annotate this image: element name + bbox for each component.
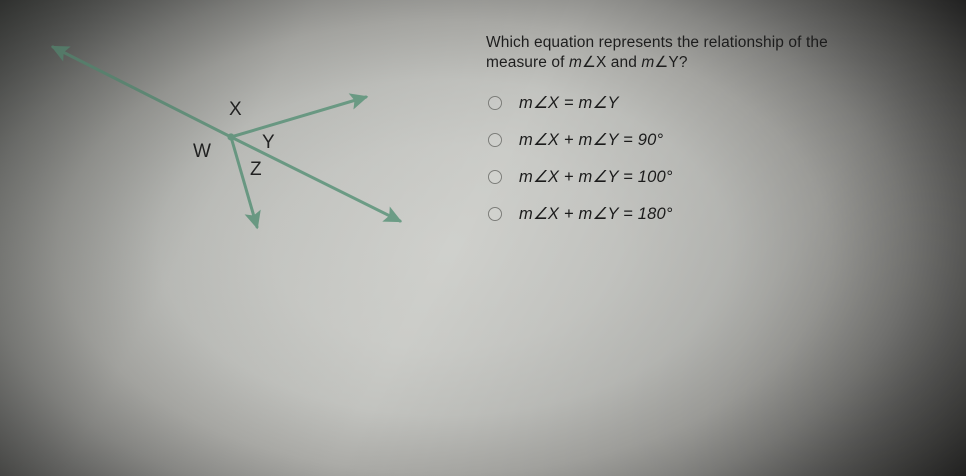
answer-option-d[interactable]: m∠X + m∠Y = 180°: [486, 196, 926, 233]
question-prompt: Which equation represents the relationsh…: [486, 33, 911, 74]
point-label-z: Z: [250, 160, 262, 179]
screenshot-root: W X Y Z Which equation represents the re…: [0, 0, 966, 476]
answer-options-list: m∠X = m∠Y m∠X + m∠Y = 90° m∠X + m∠Y = 10…: [486, 85, 926, 233]
answer-option-d-label: m∠X + m∠Y = 180°: [519, 206, 673, 223]
ray-lower-down: [231, 137, 257, 227]
radio-button-icon-a[interactable]: [488, 96, 502, 110]
question-angle-y: ∠Y?: [654, 54, 687, 71]
ray-upper-left: [53, 47, 231, 137]
radio-button-icon-d[interactable]: [488, 207, 502, 221]
radio-button-icon-c[interactable]: [488, 170, 502, 184]
vertex-point: [227, 133, 234, 140]
question-panel: Which equation represents the relationsh…: [486, 33, 926, 233]
ray-upper-right: [231, 97, 366, 137]
answer-option-a[interactable]: m∠X = m∠Y: [486, 85, 926, 122]
answer-option-b-label: m∠X + m∠Y = 90°: [519, 132, 663, 149]
answer-option-a-label: m∠X = m∠Y: [519, 95, 619, 112]
geometry-diagram: W X Y Z: [0, 0, 470, 280]
point-label-x: X: [229, 100, 242, 119]
point-label-w: W: [193, 142, 211, 161]
answer-option-c-label: m∠X + m∠Y = 100°: [519, 169, 673, 186]
question-m-italic-2: m: [641, 54, 654, 71]
question-line-2-prefix: measure of: [486, 54, 569, 71]
question-line-1: Which equation represents the relationsh…: [486, 34, 828, 51]
question-angle-x: ∠X and: [582, 54, 641, 71]
answer-option-b[interactable]: m∠X + m∠Y = 90°: [486, 122, 926, 159]
radio-button-icon-b[interactable]: [488, 133, 502, 147]
question-m-italic-1: m: [569, 54, 582, 71]
point-label-y: Y: [262, 133, 275, 152]
diagram-svg: [0, 0, 470, 280]
answer-option-c[interactable]: m∠X + m∠Y = 100°: [486, 159, 926, 196]
